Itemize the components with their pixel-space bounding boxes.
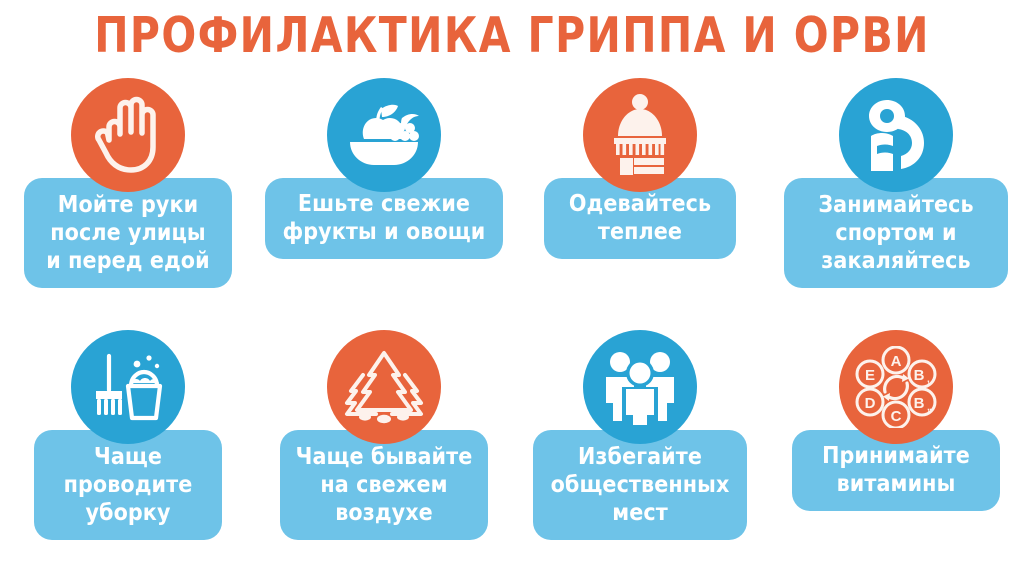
tip-card-clean-often[interactable]: Чаще проводите уборку bbox=[0, 330, 256, 540]
tip-icon-circle-wash-hands bbox=[71, 78, 185, 192]
svg-text:A: A bbox=[891, 353, 902, 370]
tip-label-fresh-air: Чаще бывайте на свежем воздухе bbox=[280, 430, 488, 540]
svg-text:„: „ bbox=[927, 402, 932, 413]
tip-label-wash-hands: Мойте руки после улицы и перед едой bbox=[24, 178, 232, 288]
tip-card-eat-fruits[interactable]: Ешьте свежие фрукты и овощи bbox=[256, 78, 512, 259]
tip-icon-circle-do-sports bbox=[839, 78, 953, 192]
tip-card-take-vitamins[interactable]: A B B C D E , „ bbox=[768, 330, 1024, 511]
tip-label-do-sports: Занимайтесь спортом и закаляйтесь bbox=[784, 178, 1008, 288]
tips-row-2: Чаще проводите уборку bbox=[0, 330, 1024, 540]
svg-text:C: C bbox=[891, 408, 902, 425]
tip-icon-circle-avoid-crowds bbox=[583, 330, 697, 444]
tip-card-avoid-crowds[interactable]: Избегайте общественных мест bbox=[512, 330, 768, 540]
strong-arm-icon bbox=[859, 96, 933, 174]
winter-hat-icon bbox=[605, 94, 675, 176]
tip-label-avoid-crowds: Избегайте общественных мест bbox=[533, 430, 747, 540]
tips-row-1: Мойте руки после улицы и перед едой bbox=[0, 78, 1024, 288]
fir-trees-icon bbox=[343, 349, 425, 425]
svg-text:B: B bbox=[914, 367, 925, 384]
svg-text:B: B bbox=[914, 395, 925, 412]
people-group-icon bbox=[600, 349, 680, 425]
svg-text:E: E bbox=[865, 367, 875, 384]
tip-card-wash-hands[interactable]: Мойте руки после улицы и перед едой bbox=[0, 78, 256, 288]
tip-card-dress-warm[interactable]: Одевайтесь теплее bbox=[512, 78, 768, 259]
hand-icon bbox=[93, 96, 163, 174]
tip-card-fresh-air[interactable]: Чаще бывайте на свежем воздухе bbox=[256, 330, 512, 540]
mop-bucket-icon bbox=[91, 350, 165, 424]
tip-icon-circle-clean-often bbox=[71, 330, 185, 444]
svg-text:D: D bbox=[865, 395, 876, 412]
tip-card-do-sports[interactable]: Занимайтесь спортом и закаляйтесь bbox=[768, 78, 1024, 288]
vitamins-icon: A B B C D E , „ bbox=[853, 346, 939, 428]
tip-icon-circle-take-vitamins: A B B C D E , „ bbox=[839, 330, 953, 444]
tip-icon-circle-eat-fruits bbox=[327, 78, 441, 192]
page-title: ПРОФИЛАКТИКА ГРИППА И ОРВИ bbox=[36, 8, 988, 64]
fruit-bowl-icon bbox=[344, 101, 424, 169]
tip-label-clean-often: Чаще проводите уборку bbox=[34, 430, 222, 540]
tip-icon-circle-fresh-air bbox=[327, 330, 441, 444]
infographic-poster: ПРОФИЛАКТИКА ГРИППА И ОРВИ Мойте руки по… bbox=[0, 0, 1024, 561]
tip-icon-circle-dress-warm bbox=[583, 78, 697, 192]
svg-text:,: , bbox=[927, 374, 930, 385]
